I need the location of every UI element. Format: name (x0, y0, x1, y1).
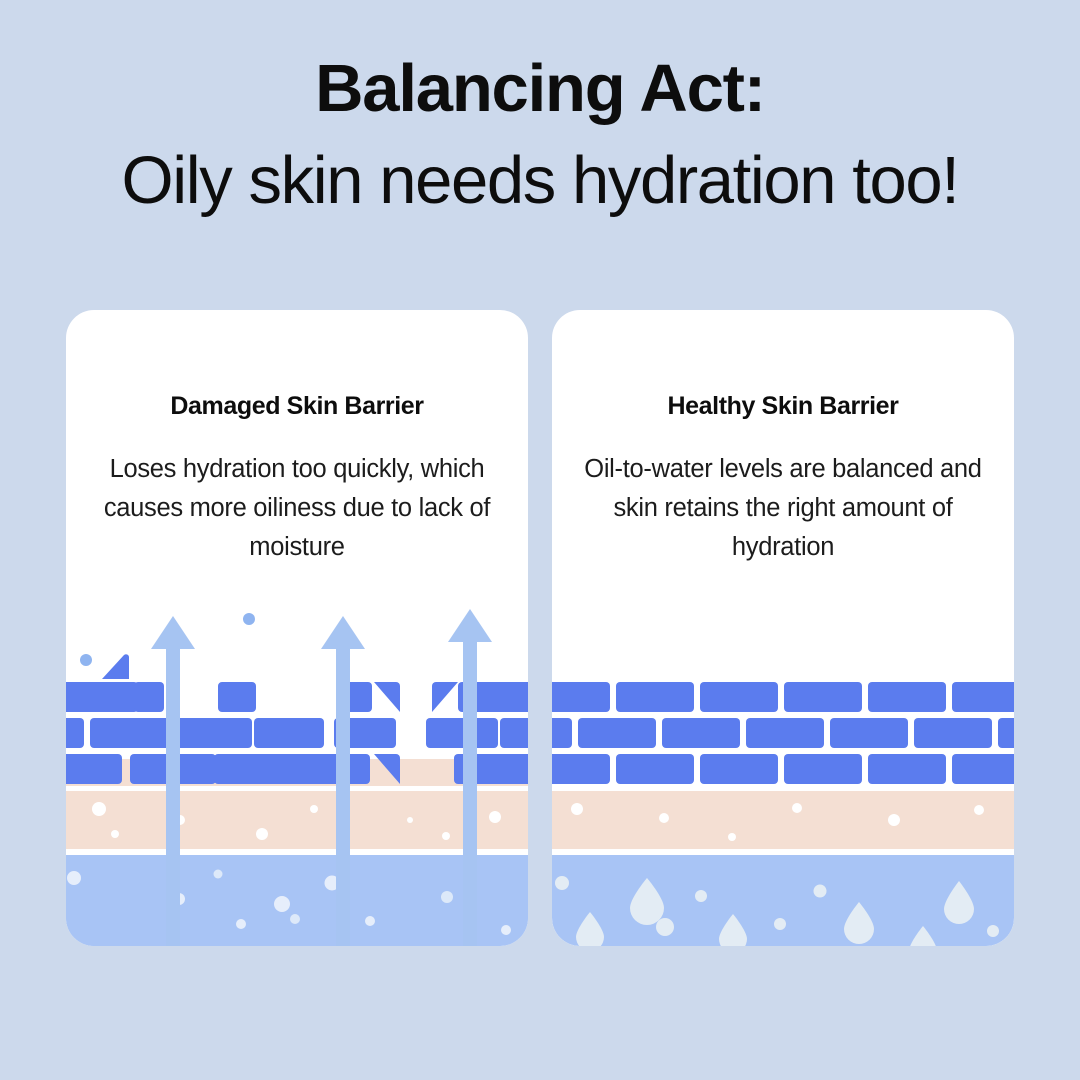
card-damaged-skin-barrier: Damaged Skin Barrier Loses hydration too… (66, 310, 528, 946)
card-healthy-skin-barrier: Healthy Skin Barrier Oil-to-water levels… (552, 310, 1014, 946)
damaged-skin-barrier-diagram (66, 606, 528, 946)
comparison-cards: Damaged Skin Barrier Loses hydration too… (66, 310, 1014, 946)
page-title: Balancing Act: Oily skin needs hydration… (0, 46, 1080, 224)
infographic-poster: Balancing Act: Oily skin needs hydration… (0, 0, 1080, 1080)
healthy-skin-barrier-diagram (552, 606, 1014, 946)
card-heading-damaged: Damaged Skin Barrier (66, 392, 528, 421)
card-body-damaged: Loses hydration too quickly, which cause… (92, 450, 502, 567)
title-line-2: Oily skin needs hydration too! (0, 138, 1080, 224)
card-heading-healthy: Healthy Skin Barrier (552, 392, 1014, 421)
card-body-healthy: Oil-to-water levels are balanced and ski… (578, 450, 988, 567)
title-line-1: Balancing Act: (0, 46, 1080, 132)
